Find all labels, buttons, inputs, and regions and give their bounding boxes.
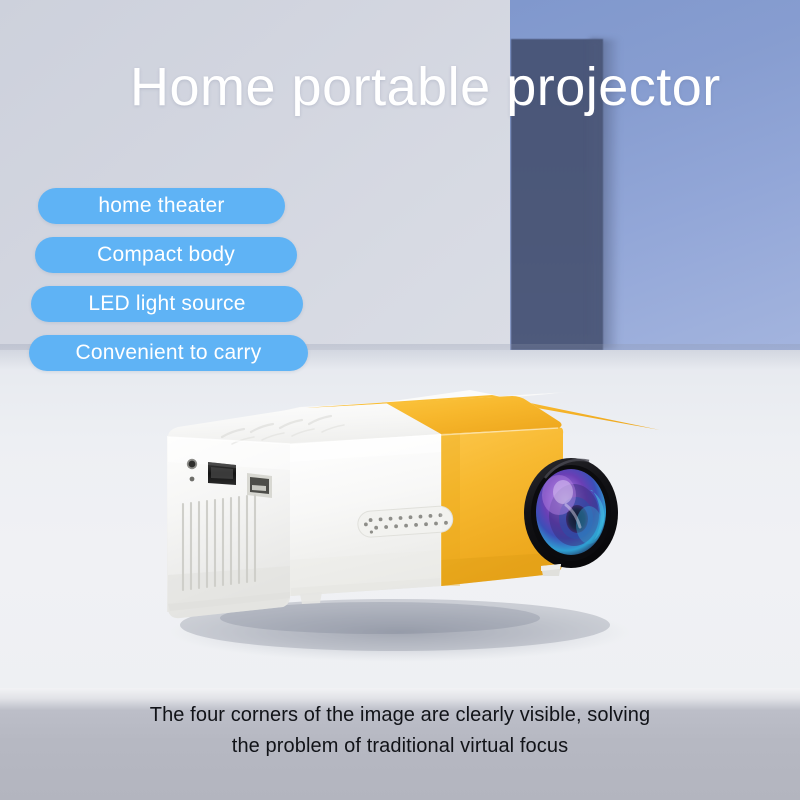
feature-pill: Compact body <box>35 237 297 273</box>
feature-pill: home theater <box>38 188 285 224</box>
caption-line-2: the problem of traditional virtual focus <box>0 731 800 762</box>
product-caption: The four corners of the image are clearl… <box>0 700 800 762</box>
page-title: Home portable projector <box>130 56 721 118</box>
background-floor <box>0 350 800 710</box>
feature-pill: LED light source <box>31 286 303 322</box>
product-banner: Home portable projector home theater Com… <box>0 0 800 800</box>
feature-pill: Convenient to carry <box>29 335 308 371</box>
feature-pill-list: home theater Compact body LED light sour… <box>38 188 308 384</box>
caption-line-1: The four corners of the image are clearl… <box>0 700 800 731</box>
feature-pill-label: Convenient to carry <box>76 341 262 365</box>
feature-pill-label: home theater <box>98 194 224 218</box>
feature-pill-label: LED light source <box>88 292 245 316</box>
feature-pill-label: Compact body <box>97 243 235 267</box>
